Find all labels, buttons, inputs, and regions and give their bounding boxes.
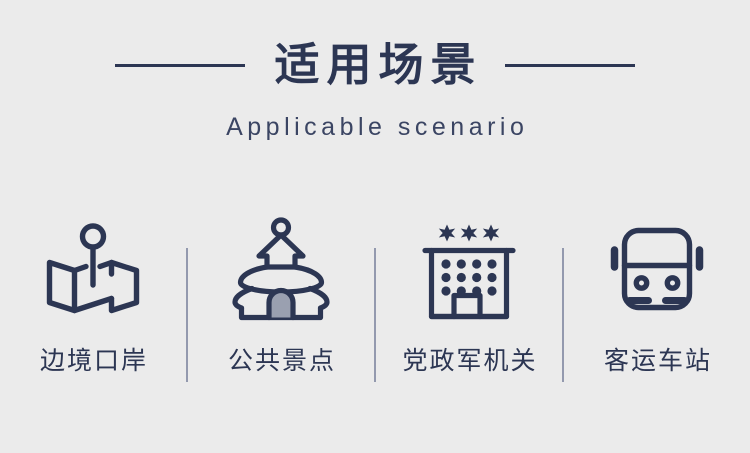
scenario-list: 边境口岸 [0, 210, 750, 382]
page-title: 适用场景 [267, 37, 482, 93]
scenario-item-bus-station[interactable]: 客运车站 [564, 210, 750, 376]
star-icon [439, 225, 499, 242]
scenario-item-label: 客运车站 [602, 346, 712, 376]
folded-map-pin-icon [33, 210, 153, 330]
page-subtitle: Applicable scenario [0, 112, 750, 142]
left-rule-decoration [115, 64, 245, 67]
bus-front-icon [597, 210, 717, 330]
banner-header: 适用场景 Applicable scenario [0, 34, 750, 142]
scenario-item-label: 公共景点 [226, 346, 336, 376]
scenario-item-government[interactable]: 党政军机关 [376, 210, 562, 376]
government-building-stars-icon [409, 210, 529, 330]
window-dots [441, 259, 496, 295]
temple-of-heaven-icon [221, 210, 341, 330]
scenario-item-public-attraction[interactable]: 公共景点 [188, 210, 374, 376]
scenario-item-label: 边境口岸 [38, 346, 148, 376]
right-rule-decoration [505, 64, 635, 67]
scenario-item-border-port[interactable]: 边境口岸 [0, 210, 186, 376]
applicable-scenario-banner: 适用场景 Applicable scenario [0, 0, 750, 453]
title-row: 适用场景 [0, 34, 750, 96]
scenario-item-label: 党政军机关 [400, 346, 537, 376]
